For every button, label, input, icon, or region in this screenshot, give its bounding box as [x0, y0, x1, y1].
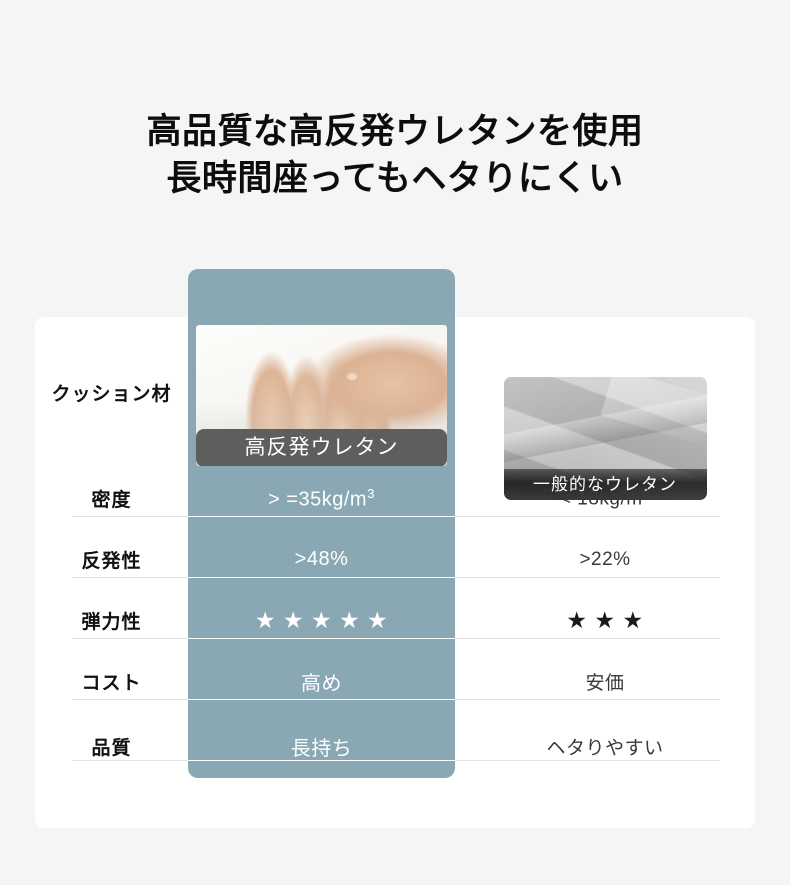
table-row: 弾力性 ★ ★ ★ ★ ★ ★ ★ ★	[35, 590, 755, 651]
row-label-elasticity: 弾力性	[35, 590, 188, 651]
cell-density-standard-value: < 18kg/m	[560, 489, 643, 510]
cell-density-highlight: > =35kg/m3	[188, 468, 455, 529]
cell-density-highlight-value: > =35kg/m	[268, 488, 367, 510]
row-label-resilience: 反発性	[35, 529, 188, 590]
row-label-cushion-material: クッション材	[35, 317, 188, 468]
headline-line-2: 長時間座ってもヘタりにくい	[0, 155, 790, 202]
cell-cushion-material-standard: 一般的なウレタン	[455, 317, 755, 468]
cell-resilience-highlight: >48%	[188, 529, 455, 590]
knuckle-highlight	[347, 373, 357, 380]
headline-line-1: 高品質な高反発ウレタンを使用	[0, 108, 790, 155]
cell-resilience-standard: >22%	[455, 529, 755, 590]
table-row: コスト 高め 安価	[35, 651, 755, 712]
comparison-rows: クッション材 高反発ウレタン 一般的なウレタン	[35, 317, 755, 780]
table-row: クッション材 高反発ウレタン 一般的なウレタン	[35, 317, 755, 468]
row-label-density: 密度	[35, 468, 188, 529]
comparison-table: クッション材 高反発ウレタン 一般的なウレタン	[35, 269, 755, 828]
cell-cushion-material-highlight: 高反発ウレタン	[188, 317, 455, 468]
cell-cost-highlight: 高め	[188, 651, 455, 712]
cell-quality-standard: ヘタりやすい	[455, 712, 755, 780]
table-row: 品質 長持ち ヘタりやすい	[35, 712, 755, 780]
star-rating-standard: ★ ★ ★	[566, 609, 643, 632]
page-title: 高品質な高反発ウレタンを使用 長時間座ってもヘタりにくい	[0, 108, 790, 202]
row-label-quality: 品質	[35, 712, 188, 780]
cell-density-standard-exponent: 3	[643, 486, 650, 500]
cell-cost-standard: 安価	[455, 651, 755, 712]
row-label-cost: コスト	[35, 651, 188, 712]
cell-density-standard: < 18kg/m3	[455, 468, 755, 529]
cell-elasticity-standard: ★ ★ ★	[455, 590, 755, 651]
table-row: 反発性 >48% >22%	[35, 529, 755, 590]
cell-density-highlight-exponent: 3	[367, 486, 375, 501]
hand-pressing-foam-photo: 高反発ウレタン	[196, 325, 447, 466]
star-rating-highlight: ★ ★ ★ ★ ★	[255, 609, 388, 632]
photo-caption-highlight: 高反発ウレタン	[196, 429, 447, 466]
table-row: 密度 > =35kg/m3 < 18kg/m3	[35, 468, 755, 529]
promo-comparison-page: 高品質な高反発ウレタンを使用 長時間座ってもヘタりにくい クッション材 高反	[0, 0, 790, 885]
cell-quality-highlight: 長持ち	[188, 712, 455, 780]
cell-elasticity-highlight: ★ ★ ★ ★ ★	[188, 590, 455, 651]
